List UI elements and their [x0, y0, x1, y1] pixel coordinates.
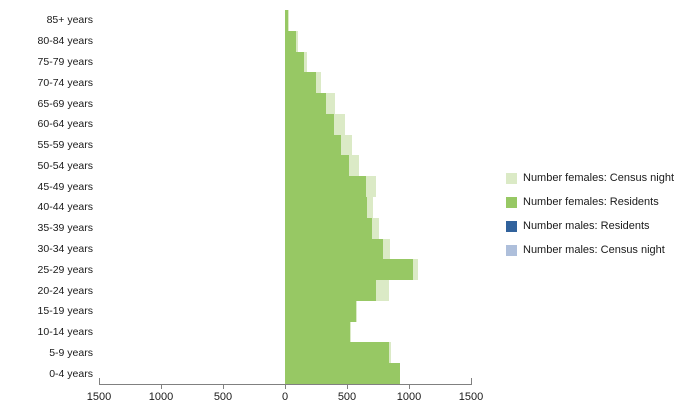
- x-axis-tick-label: 500: [317, 391, 377, 403]
- y-axis-label: 45-49 years: [38, 182, 93, 193]
- x-axis-tick-label: 500: [193, 391, 253, 403]
- x-axis-tick-label: 1000: [131, 391, 191, 403]
- y-axis-label: 85+ years: [47, 15, 93, 26]
- legend-label: Number males: Census night: [523, 244, 665, 256]
- pyramid-row: [99, 197, 471, 218]
- y-axis-label: 60-64 years: [38, 119, 93, 130]
- bar-segment: [285, 259, 413, 280]
- x-axis-tick: [409, 384, 410, 389]
- y-axis-label: 20-24 years: [38, 286, 93, 297]
- x-axis-tick-label: 1500: [69, 391, 129, 403]
- pyramid-row: [99, 10, 471, 31]
- chart-legend: Number females: Census nightNumber femal…: [506, 166, 674, 262]
- bar-segment: [285, 114, 334, 135]
- pyramid-row: [99, 72, 471, 93]
- pyramid-row: [99, 114, 471, 135]
- pyramid-row: [99, 155, 471, 176]
- legend-item[interactable]: Number females: Residents: [506, 190, 674, 214]
- pyramid-row: [99, 52, 471, 73]
- y-axis-label: 5-9 years: [49, 348, 93, 359]
- pyramid-row: [99, 342, 471, 363]
- pyramid-row: [99, 259, 471, 280]
- x-axis-tick: [347, 384, 348, 389]
- bar-segment: [285, 363, 400, 384]
- bar-segment: [285, 197, 367, 218]
- legend-swatch-icon: [506, 245, 517, 256]
- pyramid-row: [99, 176, 471, 197]
- x-axis-tick-label: 1000: [379, 391, 439, 403]
- bar-segment: [285, 72, 316, 93]
- pyramid-row: [99, 280, 471, 301]
- bar-segment: [285, 52, 304, 73]
- x-axis-tick: [285, 384, 286, 389]
- y-axis-label: 55-59 years: [38, 140, 93, 151]
- plot-area: [99, 10, 471, 384]
- legend-label: Number males: Residents: [523, 220, 650, 232]
- bar-segment: [285, 218, 372, 239]
- bar-segment: [285, 342, 389, 363]
- bar-segment: [285, 322, 350, 343]
- bar-segment: [285, 93, 326, 114]
- y-axis-label: 15-19 years: [38, 306, 93, 317]
- legend-item[interactable]: Number males: Census night: [506, 238, 674, 262]
- legend-swatch-icon: [506, 197, 517, 208]
- x-axis-tick: [161, 384, 162, 389]
- pyramid-row: [99, 218, 471, 239]
- pyramid-row: [99, 135, 471, 156]
- bar-segment: [285, 10, 288, 31]
- y-axis-label: 10-14 years: [38, 327, 93, 338]
- pyramid-row: [99, 31, 471, 52]
- y-axis-label: 50-54 years: [38, 161, 93, 172]
- legend-item[interactable]: Number males: Residents: [506, 214, 674, 238]
- bar-segment: [285, 301, 356, 322]
- y-axis-label: 0-4 years: [49, 369, 93, 380]
- legend-label: Number females: Census night: [523, 172, 674, 184]
- x-axis-tick: [223, 384, 224, 389]
- bar-segment: [285, 135, 341, 156]
- y-axis-label: 65-69 years: [38, 99, 93, 110]
- y-axis-label: 80-84 years: [38, 36, 93, 47]
- pyramid-row: [99, 239, 471, 260]
- legend-swatch-icon: [506, 173, 517, 184]
- x-axis-tick: [471, 378, 472, 385]
- legend-swatch-icon: [506, 221, 517, 232]
- x-axis-tick-label: 0: [255, 391, 315, 403]
- y-axis-label: 35-39 years: [38, 223, 93, 234]
- y-axis-label: 25-29 years: [38, 265, 93, 276]
- x-axis-tick: [99, 378, 100, 385]
- y-axis-label: 30-34 years: [38, 244, 93, 255]
- bar-segment: [285, 31, 296, 52]
- y-axis-label: 40-44 years: [38, 202, 93, 213]
- bar-segment: [285, 155, 349, 176]
- bar-segment: [285, 280, 376, 301]
- y-axis-label: 75-79 years: [38, 57, 93, 68]
- pyramid-row: [99, 301, 471, 322]
- legend-item[interactable]: Number females: Census night: [506, 166, 674, 190]
- pyramid-row: [99, 93, 471, 114]
- legend-label: Number females: Residents: [523, 196, 659, 208]
- x-axis-tick-label: 1500: [441, 391, 501, 403]
- population-pyramid-chart: 15001000500050010001500 85+ years80-84 y…: [0, 0, 696, 418]
- bar-segment: [285, 239, 383, 260]
- bar-segment: [285, 176, 366, 197]
- pyramid-row: [99, 322, 471, 343]
- pyramid-row: [99, 363, 471, 384]
- y-axis-label: 70-74 years: [38, 78, 93, 89]
